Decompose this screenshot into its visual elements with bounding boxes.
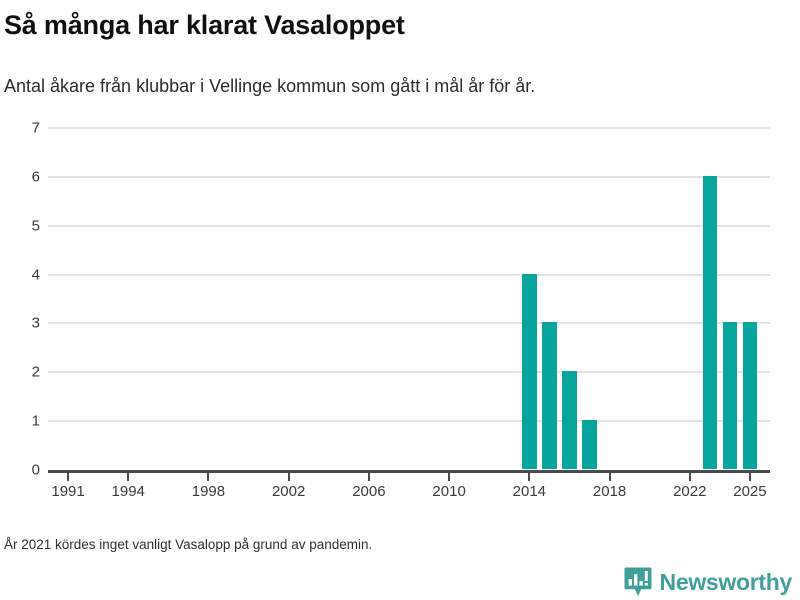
x-tick-mark	[288, 472, 290, 481]
x-tick-label: 2010	[432, 484, 465, 499]
y-axis: 01234567	[0, 125, 40, 475]
y-tick-label: 0	[6, 463, 40, 478]
x-tick-label: 1991	[51, 484, 84, 499]
newsworthy-logo[interactable]: Newsworthy	[624, 566, 792, 598]
chart-footnote: År 2021 kördes inget vanligt Vasalopp på…	[4, 537, 372, 553]
x-tick-mark	[207, 472, 209, 481]
x-tick-label: 2002	[272, 484, 305, 499]
x-tick-label: 1998	[192, 484, 225, 499]
x-tick-mark	[528, 472, 530, 481]
y-tick-label: 7	[6, 121, 40, 136]
bar[interactable]	[542, 322, 556, 469]
x-tick-label: 2018	[593, 484, 626, 499]
chart-subtitle: Antal åkare från klubbar i Vellinge komm…	[4, 76, 794, 98]
gridline	[48, 371, 770, 373]
page-title: Så många har klarat Vasaloppet	[4, 10, 784, 40]
bar[interactable]	[562, 371, 576, 469]
x-tick-mark	[127, 472, 129, 481]
bar[interactable]	[582, 420, 596, 469]
x-axis: 1991199419982002200620102014201820222025	[48, 472, 770, 512]
bar-chart-bubble-icon	[624, 567, 652, 597]
logo-wordmark: Newsworthy	[660, 571, 792, 594]
x-tick-label: 1994	[112, 484, 145, 499]
x-tick-label: 2006	[352, 484, 385, 499]
plot-area	[48, 125, 770, 472]
x-tick-mark	[609, 472, 611, 481]
gridline	[48, 127, 770, 129]
x-tick-mark	[67, 472, 69, 481]
y-tick-label: 6	[6, 169, 40, 184]
bar[interactable]	[743, 322, 757, 469]
chart-page: Så många har klarat Vasaloppet Antal åka…	[0, 0, 800, 600]
gridline	[48, 176, 770, 178]
y-tick-label: 3	[6, 316, 40, 331]
y-tick-label: 1	[6, 414, 40, 429]
x-tick-label: 2022	[673, 484, 706, 499]
bar[interactable]	[703, 176, 717, 469]
y-tick-label: 4	[6, 267, 40, 282]
y-tick-label: 2	[6, 365, 40, 380]
bar[interactable]	[723, 322, 737, 469]
gridline	[48, 420, 770, 422]
gridline	[48, 274, 770, 276]
x-tick-label: 2025	[733, 484, 766, 499]
x-tick-mark	[448, 472, 450, 481]
gridline	[48, 322, 770, 324]
x-tick-mark	[749, 472, 751, 481]
bar[interactable]	[522, 274, 536, 469]
x-tick-label: 2014	[513, 484, 546, 499]
x-tick-mark	[689, 472, 691, 481]
y-tick-label: 5	[6, 218, 40, 233]
x-tick-mark	[368, 472, 370, 481]
gridline	[48, 225, 770, 227]
